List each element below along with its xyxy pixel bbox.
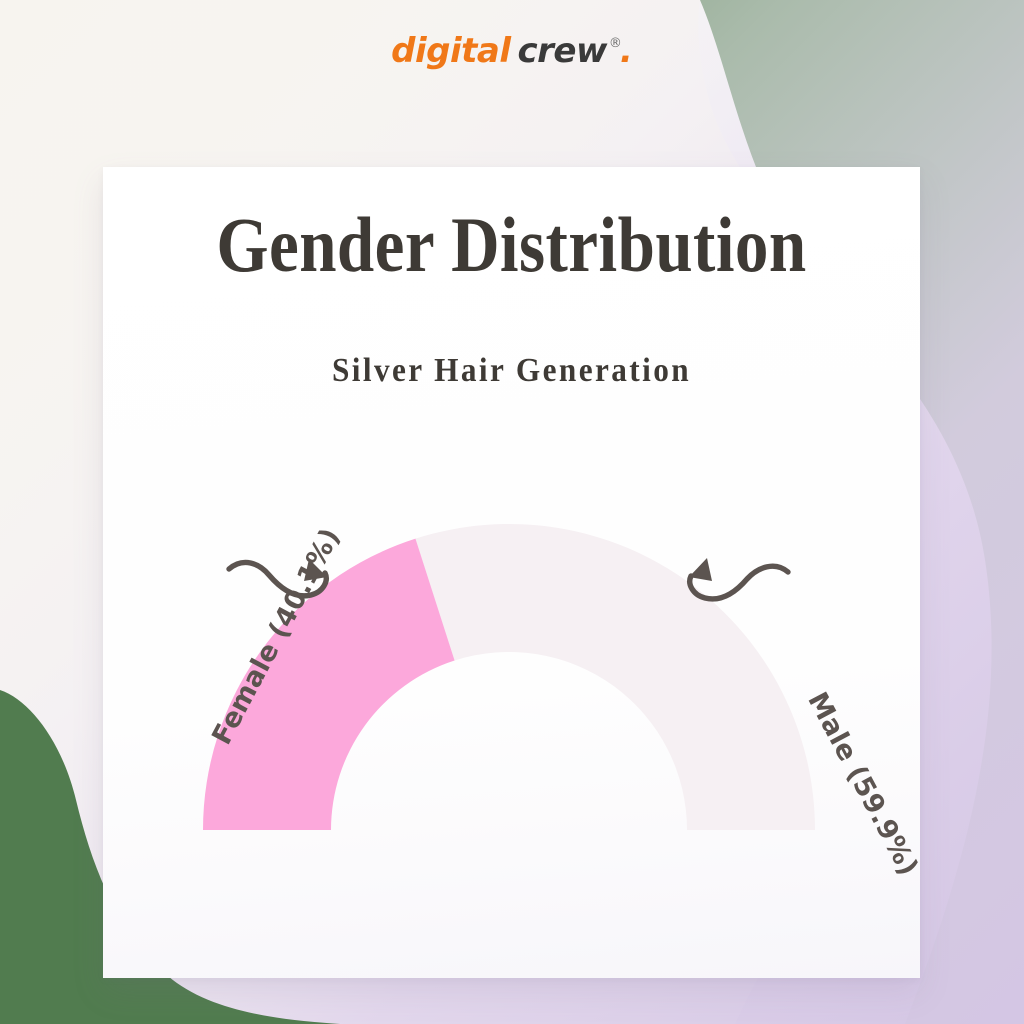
infographic-canvas: digitalcrew®. Gender Distribution Silver… bbox=[0, 0, 1024, 1024]
logo-word-digital: digital bbox=[391, 31, 510, 71]
brand-logo[interactable]: digitalcrew®. bbox=[0, 34, 1024, 68]
registered-trademark-icon: ® bbox=[609, 36, 622, 51]
page-title: Gender Distribution bbox=[160, 205, 863, 285]
logo-word-crew: crew bbox=[518, 31, 607, 71]
content-card bbox=[103, 167, 920, 978]
page-subtitle: Silver Hair Generation bbox=[136, 352, 888, 390]
